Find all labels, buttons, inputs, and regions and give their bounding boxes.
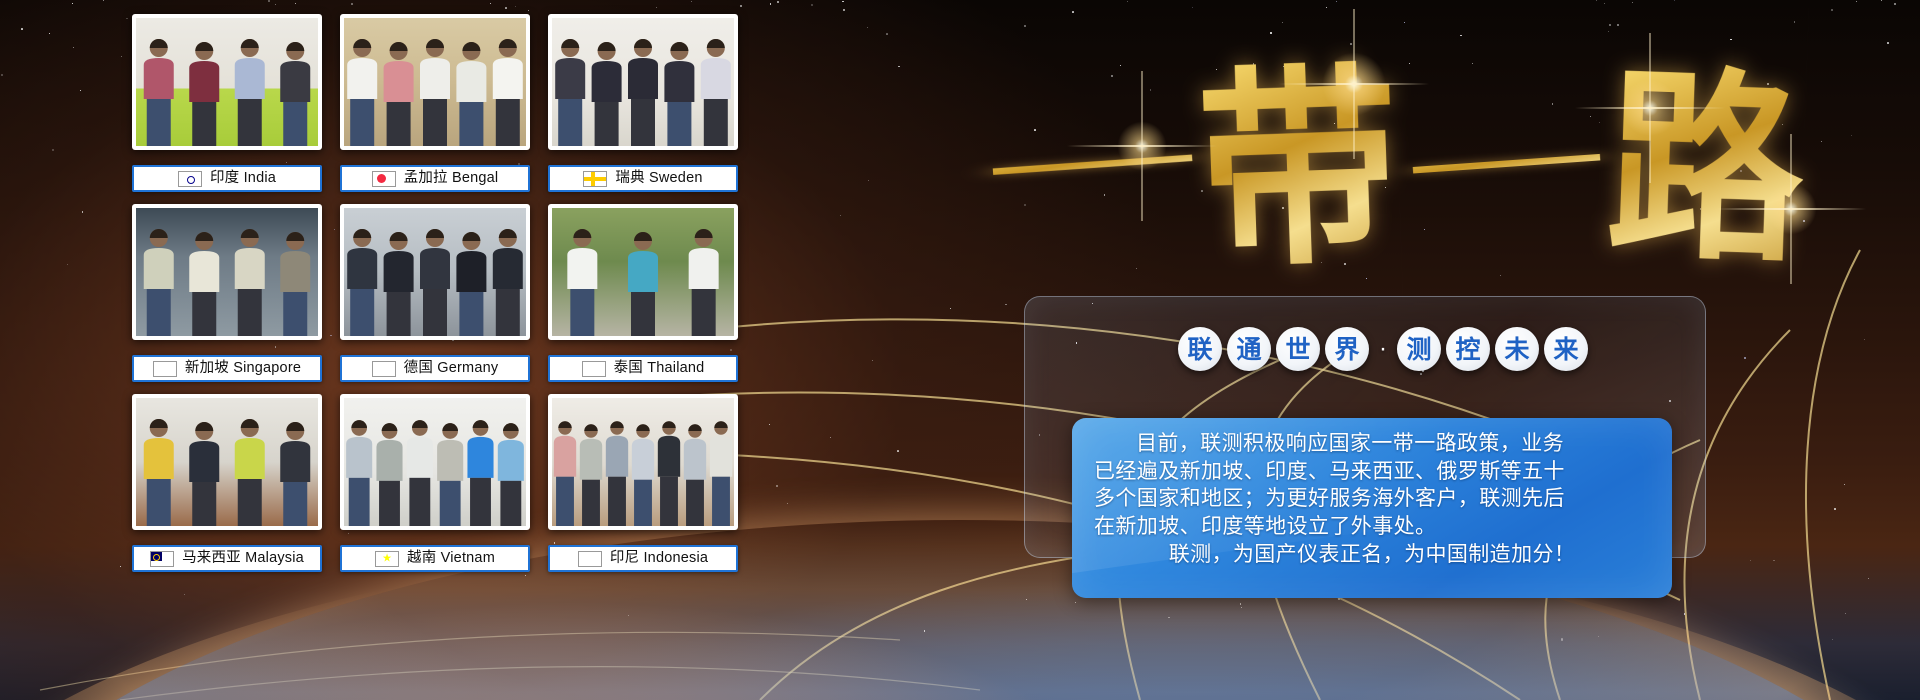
paragraph-line-4: 在新加坡、印度等地设立了外事处。 — [1094, 513, 1650, 541]
photo-scene — [552, 208, 734, 336]
photo-scene — [552, 18, 734, 146]
gallery-item: 泰国 Thailand — [548, 204, 738, 382]
country-label-text: 泰国 Thailand — [614, 361, 705, 376]
photo-people — [136, 18, 318, 146]
country-label: 瑞典 Sweden — [548, 165, 738, 192]
slogan-char-badge: 通 — [1227, 327, 1271, 371]
country-label: 新加坡 Singapore — [132, 355, 322, 382]
slogan-char-badge: 未 — [1495, 327, 1539, 371]
photo-people — [344, 208, 526, 336]
sparkle-flare-2 — [1114, 118, 1170, 174]
country-label-text: 马来西亚 Malaysia — [182, 551, 304, 566]
photo-scene — [136, 208, 318, 336]
country-label-text: 瑞典 Sweden — [615, 171, 702, 186]
title-char-1: 一 — [984, 114, 1200, 211]
gallery-item: 印尼 Indonesia — [548, 394, 738, 572]
group-photo-malaysia — [132, 394, 322, 530]
slogan-char-badge: 控 — [1446, 327, 1490, 371]
country-label-text: 新加坡 Singapore — [185, 361, 301, 376]
singapore-flag — [153, 361, 177, 377]
vietnam-flag — [375, 551, 399, 567]
group-photo-indonesia — [548, 394, 738, 530]
photo-people — [552, 208, 734, 336]
about-paragraph-panel: 目前，联测积极响应国家一带一路政策，业务 已经遍及新加坡、印度、马来西亚、俄罗斯… — [1072, 418, 1672, 598]
slogan-char-badge: 测 — [1397, 327, 1441, 371]
country-label-text: 越南 Vietnam — [407, 551, 495, 566]
photo-scene — [344, 398, 526, 526]
group-photo-singapore — [132, 204, 322, 340]
photo-people — [136, 208, 318, 336]
country-label: 德国 Germany — [340, 355, 530, 382]
gallery-item: 越南 Vietnam — [340, 394, 530, 572]
photo-scene — [136, 18, 318, 146]
germany-flag — [372, 361, 396, 377]
paragraph-line-3: 多个国家和地区；为更好服务海外客户，联测先后 — [1094, 485, 1650, 513]
gallery-item: 瑞典 Sweden — [548, 14, 738, 192]
slogan-badges: 联通世界·测控未来 — [1178, 327, 1588, 371]
group-photo-germany — [340, 204, 530, 340]
slogan-char: 联 — [1187, 337, 1212, 362]
gallery-item: 德国 Germany — [340, 204, 530, 382]
sparkle-flare-3 — [1618, 76, 1682, 140]
gallery-item: 孟加拉 Bengal — [340, 14, 530, 192]
slogan-char-badge: 世 — [1276, 327, 1320, 371]
photo-people — [552, 398, 734, 526]
slogan-separator-dot: · — [1374, 337, 1392, 361]
group-photo-india — [132, 14, 322, 150]
country-label: 马来西亚 Malaysia — [132, 545, 322, 572]
sweden-flag — [583, 171, 607, 187]
malaysia-flag — [150, 551, 174, 567]
photo-scene — [552, 398, 734, 526]
country-label-text: 孟加拉 Bengal — [404, 171, 499, 186]
indonesia-flag — [578, 551, 602, 567]
belt-and-road-banner: 印度 India孟加拉 Bengal瑞典 Sweden新加坡 Singapore… — [0, 0, 1920, 700]
thailand-flag — [582, 361, 606, 377]
sparkle-flare-4 — [1762, 180, 1820, 238]
country-label-text: 德国 Germany — [404, 361, 499, 376]
slogan-char-badge: 来 — [1544, 327, 1588, 371]
title-char-3: 一 — [1404, 113, 1607, 211]
country-label: 印度 India — [132, 165, 322, 192]
gallery-item: 印度 India — [132, 14, 322, 192]
paragraph-line-1: 目前，联测积极响应国家一带一路政策，业务 — [1094, 430, 1650, 458]
photo-scene — [344, 208, 526, 336]
slogan-char: 控 — [1455, 337, 1480, 362]
sparkle-flare-1 — [1318, 48, 1390, 120]
photo-scene — [344, 18, 526, 146]
photo-scene — [136, 398, 318, 526]
india-flag — [178, 171, 202, 187]
slogan-char: 世 — [1285, 337, 1310, 362]
country-label: 印尼 Indonesia — [548, 545, 738, 572]
group-photo-vietnam — [340, 394, 530, 530]
title-char-2: 带 — [1193, 0, 1404, 308]
country-photo-gallery: 印度 India孟加拉 Bengal瑞典 Sweden新加坡 Singapore… — [132, 14, 752, 584]
country-label-text: 印尼 Indonesia — [610, 551, 708, 566]
slogan-char: 测 — [1406, 337, 1431, 362]
slogan-char-badge: 联 — [1178, 327, 1222, 371]
country-label: 孟加拉 Bengal — [340, 165, 530, 192]
gallery-item: 马来西亚 Malaysia — [132, 394, 322, 572]
group-photo-sweden — [548, 14, 738, 150]
group-photo-bengal — [340, 14, 530, 150]
slogan-char: · — [1379, 337, 1387, 361]
gallery-item: 新加坡 Singapore — [132, 204, 322, 382]
paragraph-line-5: 联测，为国产仪表正名，为中国制造加分！ — [1094, 541, 1650, 569]
slogan-char-badge: 界 — [1325, 327, 1369, 371]
photo-people — [136, 398, 318, 526]
slogan-char: 通 — [1236, 337, 1261, 362]
bangladesh-flag — [372, 171, 396, 187]
country-label: 泰国 Thailand — [548, 355, 738, 382]
title-char-4: 路 — [1603, 1, 1809, 302]
photo-people — [552, 18, 734, 146]
paragraph-line-2: 已经遍及新加坡、印度、马来西亚、俄罗斯等五十 — [1094, 458, 1650, 486]
slogan-char: 界 — [1334, 337, 1359, 362]
photo-people — [344, 18, 526, 146]
belt-and-road-title: 一 带 一 路 — [1020, 8, 1720, 223]
country-label-text: 印度 India — [210, 171, 276, 186]
group-photo-thailand — [548, 204, 738, 340]
country-label: 越南 Vietnam — [340, 545, 530, 572]
slogan-char: 来 — [1553, 337, 1578, 362]
slogan-char: 未 — [1504, 337, 1529, 362]
photo-people — [344, 398, 526, 526]
